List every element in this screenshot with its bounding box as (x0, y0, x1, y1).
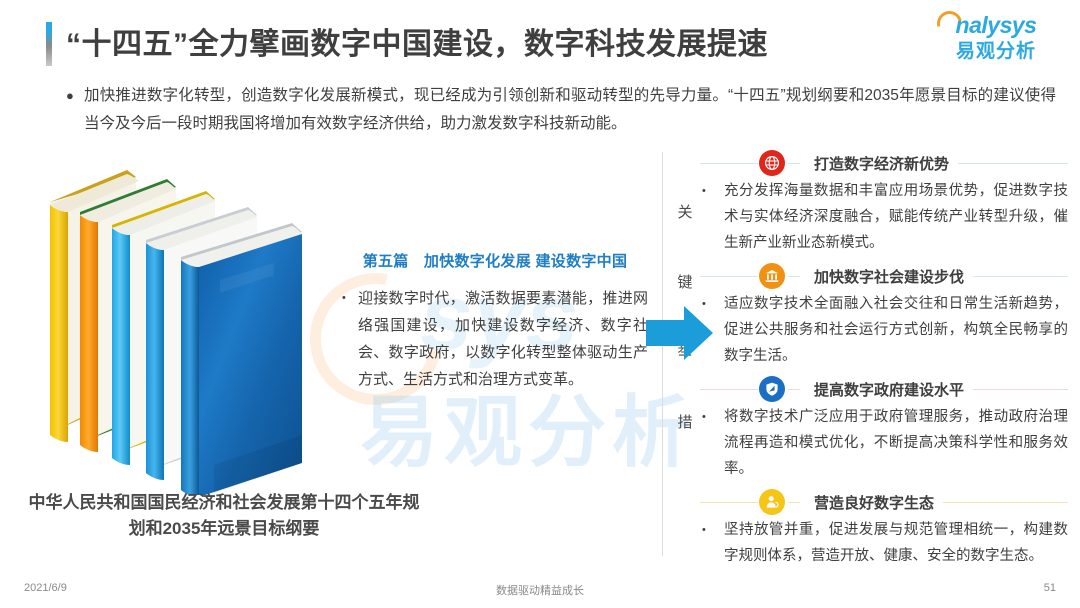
books-svg (24, 165, 354, 495)
footer-slogan: 数据驱动精益成长 (0, 582, 1080, 598)
section-header: 营造良好数字生态 (700, 487, 1068, 517)
page-header: “十四五”全力擘画数字中国建设，数字科技发展提速 nalysys 易观分析 (0, 0, 1080, 74)
section-header: 加快数字社会建设步伐 (700, 261, 1068, 291)
bullet-marker: • (702, 404, 724, 482)
arrow-svg (646, 304, 714, 362)
section-title: 提高数字政府建设水平 (800, 379, 973, 400)
section-digital-economy: 打造数字经济新优势 • 充分发挥海量数据和丰富应用场景优势，促进数字技术与实体经… (700, 148, 1068, 256)
section-title: 加快数字社会建设步伐 (800, 266, 973, 287)
person-icon (759, 489, 785, 515)
section-text: 将数字技术广泛应用于政府管理服务，推动政府治理流程再造和模式优化，不断提高决策科… (724, 404, 1068, 482)
section-rule-left (700, 276, 758, 277)
section-header: 提高数字政府建设水平 (700, 374, 1068, 404)
section-header: 打造数字经济新优势 (700, 148, 1068, 178)
section-digital-ecosystem: 营造良好数字生态 • 坚持放管并重，促进发展与规范管理相统一，构建数字规则体系，… (700, 487, 1068, 569)
title-accent-bar (46, 22, 52, 66)
bullet-marker: • (702, 517, 724, 569)
section-rule-left (700, 163, 758, 164)
section-title: 打造数字经济新优势 (800, 153, 958, 174)
analysys-logo: nalysys 易观分析 (934, 10, 1058, 66)
books-caption: 中华人民共和国国民经济和社会发展第十四个五年规划和2035年远景目标纲要 (24, 490, 424, 542)
bullet-marker: ● (66, 82, 84, 138)
section-rule-mini (788, 502, 800, 503)
section-text: 适应数字技术全面融入社会交往和日常生活新趋势，促进公共服务和社会运行方式创新，构… (724, 291, 1068, 369)
key-measures-char: 措 (668, 388, 702, 458)
intro-paragraph: ● 加快推进数字化转型，创造数字化发展新模式，现已经成为引领创新和驱动转型的先导… (66, 82, 1056, 138)
section-rule-right (943, 502, 1068, 503)
middle-body: • 迎接数字时代，激活数据要素潜能，推进网络强国建设，加快建设数字经济、数字社会… (342, 285, 648, 393)
middle-text: 迎接数字时代，激活数据要素潜能，推进网络强国建设，加快建设数字经济、数字社会、数… (358, 285, 648, 393)
logo-wordmark: nalysys (956, 12, 1037, 38)
section-rule-left (700, 389, 758, 390)
section-rule-right (973, 276, 1068, 277)
section-rule-left (700, 502, 758, 503)
section-digital-society: 加快数字社会建设步伐 • 适应数字技术全面融入社会交往和日常生活新趋势，促进公共… (700, 261, 1068, 369)
section-body: • 将数字技术广泛应用于政府管理服务，推动政府治理流程再造和模式优化，不断提高决… (700, 404, 1068, 482)
section-body: • 适应数字技术全面融入社会交往和日常生活新趋势，促进公共服务和社会运行方式创新… (700, 291, 1068, 369)
bullet-marker: • (342, 285, 358, 393)
section-digital-government: 提高数字政府建设水平 • 将数字技术广泛应用于政府管理服务，推动政府治理流程再造… (700, 374, 1068, 482)
books-illustration: 中华人民共和国国民经济和社会发展第十四个五年规划和2035年远景目标纲要 (24, 165, 354, 545)
section-body: • 坚持放管并重，促进发展与规范管理相统一，构建数字规则体系，营造开放、健康、安… (700, 517, 1068, 569)
bank-icon (759, 263, 785, 289)
section-text: 坚持放管并重，促进发展与规范管理相统一，构建数字规则体系，营造开放、健康、安全的… (724, 517, 1068, 569)
section-rule-mini (788, 276, 800, 277)
globe-icon (759, 150, 785, 176)
bullet-marker: • (702, 178, 724, 256)
section-rule-mini (788, 163, 800, 164)
shield-icon (759, 376, 785, 402)
logo-chinese-name: 易观分析 (934, 40, 1058, 64)
key-measures-char: 关 (668, 178, 702, 248)
section-rule-right (973, 389, 1068, 390)
middle-heading: 第五篇 加快数字化发展 建设数字中国 (342, 250, 648, 271)
section-title: 营造良好数字生态 (800, 492, 943, 513)
logo-top-row: nalysys (934, 10, 1058, 40)
page-title: “十四五”全力擘画数字中国建设，数字科技发展提速 (66, 19, 768, 63)
section-body: • 充分发挥海量数据和丰富应用场景优势，促进数字技术与实体经济深度融合，赋能传统… (700, 178, 1068, 256)
footer-page-number: 51 (1044, 582, 1056, 594)
intro-text: 加快推进数字化转型，创造数字化发展新模式，现已经成为引领创新和驱动转型的先导力量… (84, 82, 1056, 138)
right-arrow-icon (646, 304, 714, 367)
section-text: 充分发挥海量数据和丰富应用场景优势，促进数字技术与实体经济深度融合，赋能传统产业… (724, 178, 1068, 256)
section-rule-mini (788, 389, 800, 390)
page-footer: 2021/6/9 数据驱动精益成长 51 (0, 574, 1080, 608)
middle-panel: 第五篇 加快数字化发展 建设数字中国 • 迎接数字时代，激活数据要素潜能，推进网… (342, 250, 648, 393)
section-rule-right (958, 163, 1068, 164)
key-measures-sections: 打造数字经济新优势 • 充分发挥海量数据和丰富应用场景优势，促进数字技术与实体经… (700, 148, 1068, 574)
